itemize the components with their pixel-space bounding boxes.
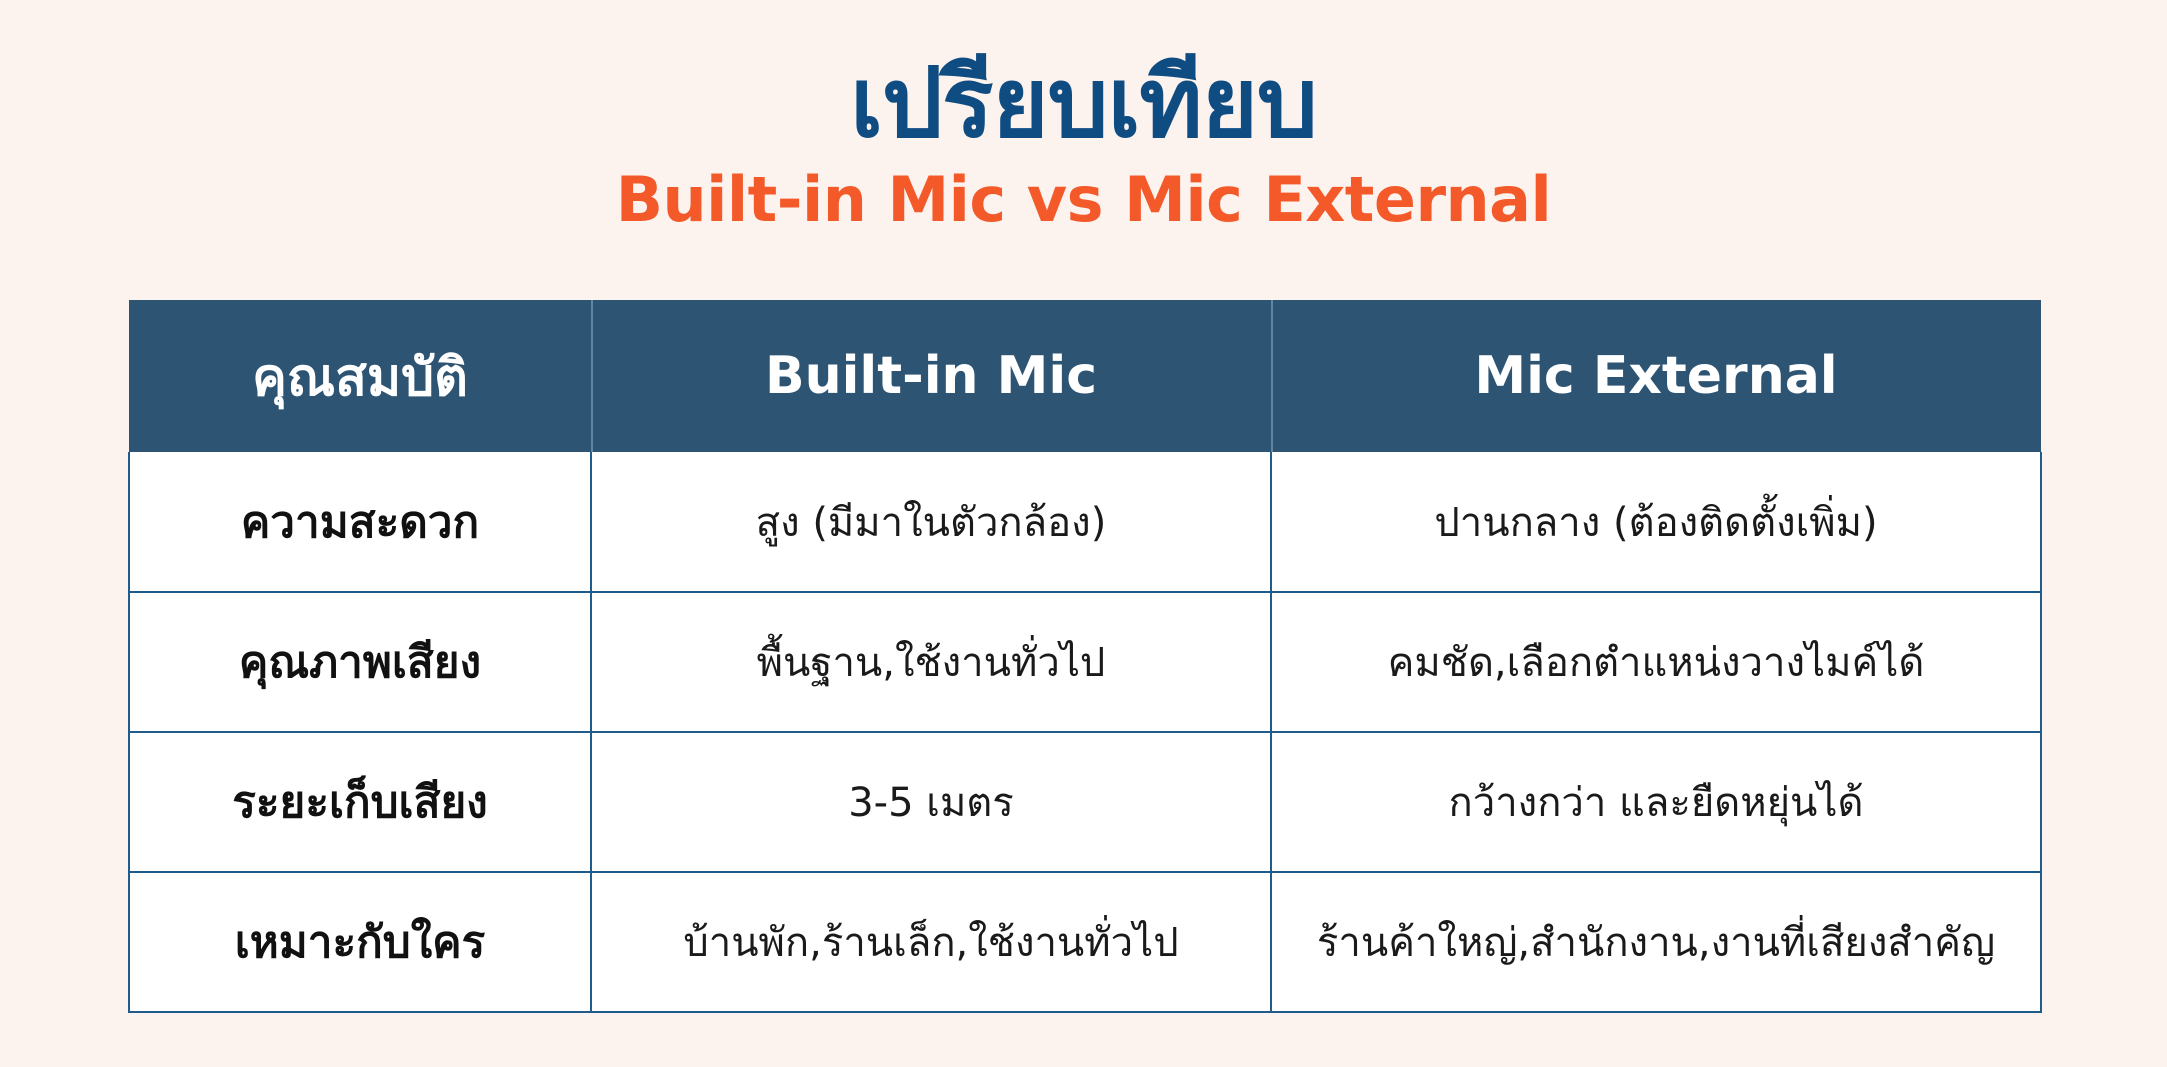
table-row: ระยะเก็บเสียง 3-5 เมตร กว้างกว่า และยืดห… — [129, 732, 2041, 872]
cell-external: ปานกลาง (ต้องติดตั้งเพิ่ม) — [1271, 452, 2041, 592]
column-header-mic-external: Mic External — [1271, 300, 2041, 452]
table-body: ความสะดวก สูง (มีมาในตัวกล้อง) ปานกลาง (… — [129, 452, 2041, 1012]
cell-builtin: บ้านพัก,ร้านเล็ก,ใช้งานทั่วไป — [591, 872, 1271, 1012]
comparison-table-wrap: คุณสมบัติ Built-in Mic Mic External ความ… — [128, 300, 2040, 1013]
page-title: เปรียบเทียบ — [0, 48, 2167, 158]
cell-builtin: 3-5 เมตร — [591, 732, 1271, 872]
table-row: ความสะดวก สูง (มีมาในตัวกล้อง) ปานกลาง (… — [129, 452, 2041, 592]
cell-builtin: พื้นฐาน,ใช้งานทั่วไป — [591, 592, 1271, 732]
cell-builtin: สูง (มีมาในตัวกล้อง) — [591, 452, 1271, 592]
cell-feature: ความสะดวก — [129, 452, 591, 592]
cell-external: ร้านค้าใหญ่,สำนักงาน,งานที่เสียงสำคัญ — [1271, 872, 2041, 1012]
column-header-feature: คุณสมบัติ — [129, 300, 591, 452]
cell-feature: คุณภาพเสียง — [129, 592, 591, 732]
cell-external: คมชัด,เลือกตำแหน่งวางไมค์ได้ — [1271, 592, 2041, 732]
comparison-infographic: เปรียบเทียบ Built-in Mic vs Mic External… — [0, 0, 2167, 1067]
table-row: คุณภาพเสียง พื้นฐาน,ใช้งานทั่วไป คมชัด,เ… — [129, 592, 2041, 732]
cell-feature: เหมาะกับใคร — [129, 872, 591, 1012]
cell-feature: ระยะเก็บเสียง — [129, 732, 591, 872]
cell-external: กว้างกว่า และยืดหยุ่นได้ — [1271, 732, 2041, 872]
heading-block: เปรียบเทียบ Built-in Mic vs Mic External — [0, 0, 2167, 236]
table-header: คุณสมบัติ Built-in Mic Mic External — [129, 300, 2041, 452]
comparison-table: คุณสมบัติ Built-in Mic Mic External ความ… — [128, 300, 2042, 1013]
page-subtitle: Built-in Mic vs Mic External — [0, 164, 2167, 235]
table-header-row: คุณสมบัติ Built-in Mic Mic External — [129, 300, 2041, 452]
table-row: เหมาะกับใคร บ้านพัก,ร้านเล็ก,ใช้งานทั่วไ… — [129, 872, 2041, 1012]
column-header-builtin-mic: Built-in Mic — [591, 300, 1271, 452]
